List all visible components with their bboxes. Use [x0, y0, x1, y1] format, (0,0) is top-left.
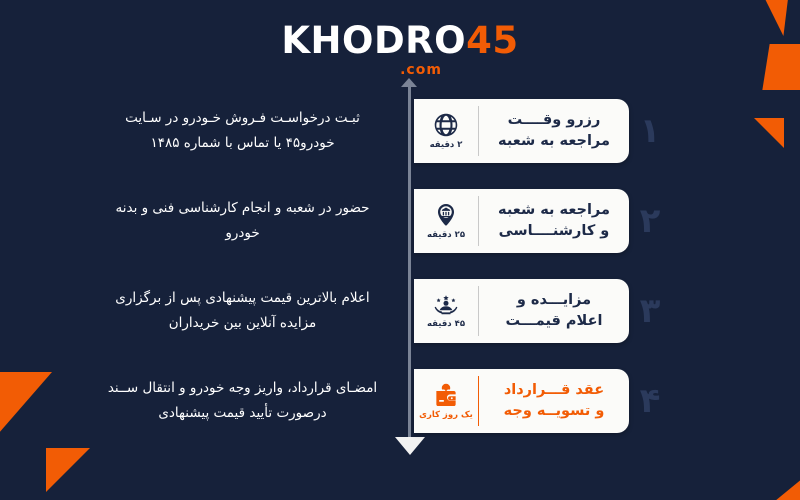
globe-icon — [433, 112, 459, 138]
card-divider-1 — [478, 106, 479, 156]
step-icon-block-4: یک روز کاری — [414, 369, 478, 433]
step-description-1: ثبـت درخواسـت فـروش خـودرو در سـایت خودر… — [85, 106, 400, 156]
step-description-line-1: امضـای قرارداد، واریز وجه خودرو و انتقال… — [85, 376, 400, 401]
step-icon-block-1: ۲ دقیقه — [414, 99, 478, 163]
step-description-line-2: مزایده آنلاین بین خریداران — [85, 311, 400, 336]
step-row-1: ثبـت درخواسـت فـروش خـودرو در سـایت خودر… — [0, 92, 800, 170]
step-card-4[interactable]: یک روز کاری عقد قـــرارداد و تسویــه وجه — [414, 369, 629, 433]
step-description-line-2: درصورت تأیید قیمت پیشنهادی — [85, 401, 400, 426]
step-description-line-1: حضور در شعبه و انجام کارشناسی فنی و بدنه — [85, 196, 400, 221]
logo-wordmark: KHODRO45 — [0, 22, 800, 59]
step-row-2: حضور در شعبه و انجام کارشناسی فنی و بدنه… — [0, 182, 800, 260]
step-title-2: مراجعه به شعبه و کارشنــــاسی — [479, 200, 629, 242]
step-number-1: ۱ — [632, 99, 668, 163]
logo-khodro-text: KHODRO — [281, 19, 466, 62]
decor-shape-bottom-left-2 — [46, 448, 90, 492]
step-title-line-1: عقد قـــرارداد — [485, 380, 623, 401]
step-duration-2: ۲۵ دقیقه — [427, 230, 465, 240]
step-duration-1: ۲ دقیقه — [430, 140, 463, 150]
card-divider-3 — [478, 286, 479, 336]
step-description-2: حضور در شعبه و انجام کارشناسی فنی و بدنه… — [85, 196, 400, 246]
decor-shape-bottom-right — [764, 474, 800, 500]
step-row-3: اعلام بالاترین قیمت پیشنهادی پس از برگزا… — [0, 272, 800, 350]
logo-45-text: 45 — [466, 19, 519, 62]
step-description-3: اعلام بالاترین قیمت پیشنهادی پس از برگزا… — [85, 286, 400, 336]
wallet-deposit-icon — [433, 382, 459, 408]
auction-award-icon — [432, 293, 460, 317]
step-card-2[interactable]: ۲۵ دقیقه مراجعه به شعبه و کارشنــــاسی — [414, 189, 629, 253]
location-pin-bank-icon — [433, 202, 459, 228]
step-duration-4: یک روز کاری — [419, 410, 473, 420]
step-icon-block-2: ۲۵ دقیقه — [414, 189, 478, 253]
step-description-line-2: خودرو — [85, 221, 400, 246]
step-title-line-1: مزایـــده و — [485, 290, 623, 311]
step-title-4: عقد قـــرارداد و تسویــه وجه — [479, 380, 629, 422]
step-title-3: مزایـــده و اعلام قیمـــت — [479, 290, 629, 332]
step-description-line-2: خودرو۴۵ یا تماس با شماره ۱۴۸۵ — [85, 131, 400, 156]
step-title-line-2: اعلام قیمـــت — [485, 311, 623, 332]
logo-tld-text: .com — [42, 62, 800, 78]
brand-logo: KHODRO45 .com — [0, 22, 800, 78]
step-row-4: امضـای قرارداد، واریز وجه خودرو و انتقال… — [0, 362, 800, 440]
step-title-line-1: مراجعه به شعبه — [485, 200, 623, 221]
step-number-2: ۲ — [632, 189, 668, 253]
step-title-line-2: و کارشنــــاسی — [485, 221, 623, 242]
infographic-canvas: KHODRO45 .com ثبـت درخواسـت فـروش خـودرو… — [0, 0, 800, 500]
step-card-3[interactable]: ۴۵ دقیقه مزایـــده و اعلام قیمـــت — [414, 279, 629, 343]
step-duration-3: ۴۵ دقیقه — [427, 319, 465, 329]
step-description-4: امضـای قرارداد، واریز وجه خودرو و انتقال… — [85, 376, 400, 426]
card-divider-2 — [478, 196, 479, 246]
step-icon-block-3: ۴۵ دقیقه — [414, 279, 478, 343]
step-title-line-1: رزرو وقــــت — [485, 110, 623, 131]
step-title-1: رزرو وقــــت مراجعه به شعبه — [479, 110, 629, 152]
card-divider-4 — [478, 376, 479, 426]
step-number-3: ۳ — [632, 279, 668, 343]
step-description-line-1: ثبـت درخواسـت فـروش خـودرو در سـایت — [85, 106, 400, 131]
step-title-line-2: و تسویــه وجه — [485, 401, 623, 422]
step-card-1[interactable]: ۲ دقیقه رزرو وقــــت مراجعه به شعبه — [414, 99, 629, 163]
step-description-line-1: اعلام بالاترین قیمت پیشنهادی پس از برگزا… — [85, 286, 400, 311]
step-number-4: ۴ — [632, 369, 668, 433]
step-title-line-2: مراجعه به شعبه — [485, 131, 623, 152]
